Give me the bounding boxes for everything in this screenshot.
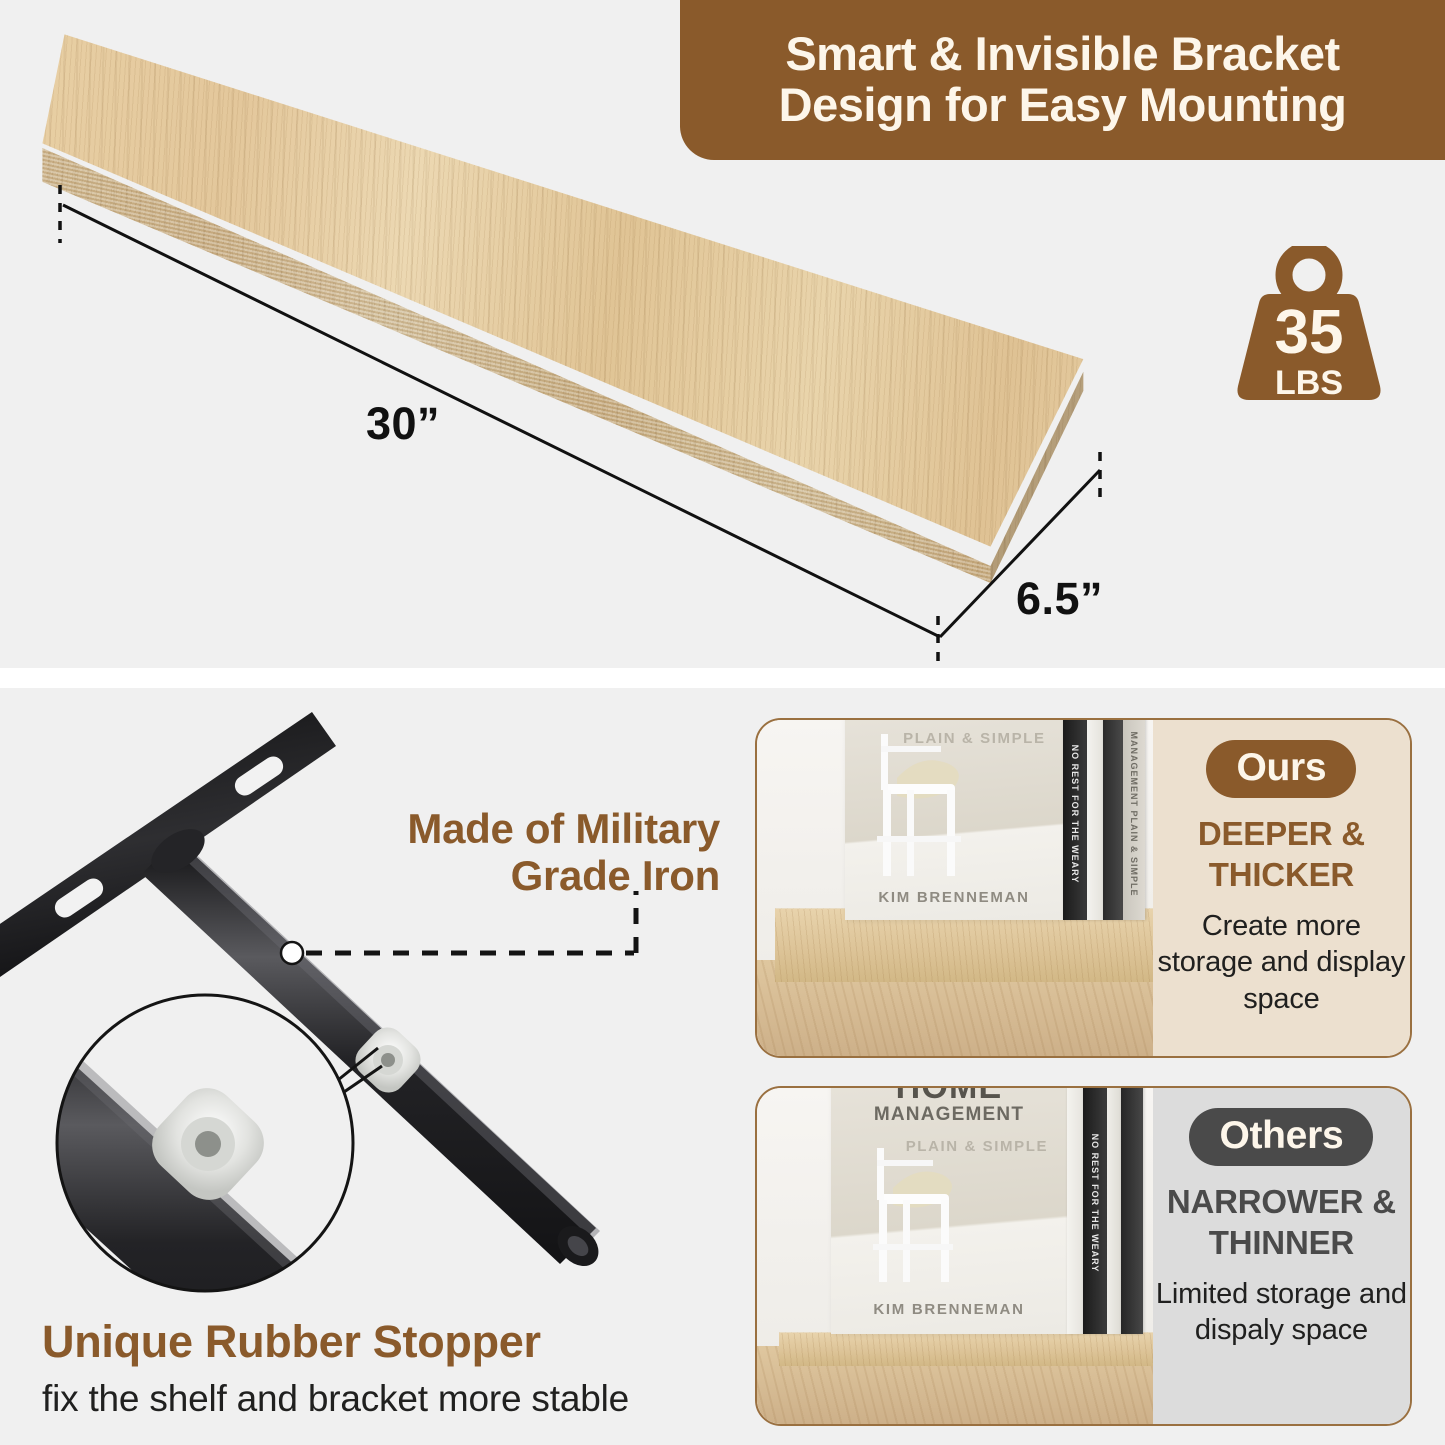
others-spine-3 (1107, 1088, 1121, 1334)
ours-book-cover: PLAIN & SIMPLE KIM BRENNEMAN (845, 720, 1063, 920)
ours-headline-line-1: DEEPER & (1198, 815, 1365, 852)
ours-headline: DEEPER & THICKER (1198, 814, 1365, 896)
others-photo: HOME MANAGEMENT PLAIN & SIMPLE KIM BRENN… (757, 1088, 1153, 1424)
ours-pill: Ours (1206, 740, 1356, 798)
chair-illustration (853, 1144, 979, 1300)
others-shelf-board (779, 1332, 1153, 1366)
bracket-callout-line (281, 891, 636, 964)
bracket-illustration (0, 688, 740, 1308)
header-banner: Smart & Invisible Bracket Design for Eas… (680, 0, 1445, 160)
weight-icon (1233, 246, 1385, 404)
header-title-line-2: Design for Easy Mounting (779, 80, 1347, 131)
shelf-width-label: 30” (366, 398, 440, 450)
panel-divider (0, 668, 1445, 688)
ours-spine-3 (1103, 720, 1123, 920)
ours-spine-2 (1087, 720, 1103, 920)
others-headline: NARROWER & THINNER (1167, 1182, 1396, 1264)
others-description: Limited storage and dispaly space (1153, 1276, 1410, 1349)
others-pill: Others (1189, 1108, 1373, 1166)
others-spine-4 (1121, 1088, 1143, 1334)
ours-spine-4: MANAGEMENT PLAIN & SIMPLE (1123, 720, 1145, 920)
others-book-cover: HOME MANAGEMENT PLAIN & SIMPLE KIM BRENN… (831, 1088, 1067, 1334)
others-spine-1 (1067, 1088, 1083, 1334)
military-heading-line-1: Made of Military (407, 805, 720, 852)
rubber-stopper-caption: Unique Rubber Stopper fix the shelf and … (42, 1316, 722, 1420)
ours-headline-line-2: THICKER (1209, 856, 1354, 893)
military-grade-heading: Made of Military Grade Iron (330, 805, 720, 899)
others-headline-line-1: NARROWER & (1167, 1183, 1396, 1220)
ours-book-title: PLAIN & SIMPLE (903, 730, 1045, 748)
chair-illustration (853, 726, 985, 894)
weight-capacity-badge: 35 LBS (1233, 246, 1385, 404)
others-text-panel: Others NARROWER & THINNER Limited storag… (1153, 1088, 1410, 1424)
header-title-line-1: Smart & Invisible Bracket (785, 29, 1339, 80)
others-book-top-subtitle: MANAGEMENT (831, 1104, 1067, 1126)
others-book-title: PLAIN & SIMPLE (906, 1138, 1048, 1156)
military-heading-line-2: Grade Iron (511, 852, 720, 899)
others-headline-line-2: THINNER (1209, 1224, 1354, 1261)
top-panel: 30” 6.5” Smart & Invisible Bracket Desig… (0, 0, 1445, 668)
ours-photo: PLAIN & SIMPLE KIM BRENNEMAN NO REST FOR… (757, 720, 1153, 1056)
others-book-author: KIM BRENNEMAN (831, 1301, 1067, 1318)
shelf-depth-label: 6.5” (1016, 573, 1103, 625)
ours-description: Create more storage and display space (1153, 908, 1410, 1018)
ours-book-author: KIM BRENNEMAN (845, 889, 1063, 906)
comparison-card-ours: PLAIN & SIMPLE KIM BRENNEMAN NO REST FOR… (755, 718, 1412, 1058)
others-spine-2: NO REST FOR THE WEARY (1083, 1088, 1107, 1334)
rubber-stopper-subtitle: fix the shelf and bracket more stable (42, 1378, 722, 1420)
ours-spine-1: NO REST FOR THE WEARY (1063, 720, 1087, 920)
rubber-stopper-title: Unique Rubber Stopper (42, 1316, 722, 1368)
ours-text-panel: Ours DEEPER & THICKER Create more storag… (1153, 720, 1410, 1056)
comparison-card-others: HOME MANAGEMENT PLAIN & SIMPLE KIM BRENN… (755, 1086, 1412, 1426)
